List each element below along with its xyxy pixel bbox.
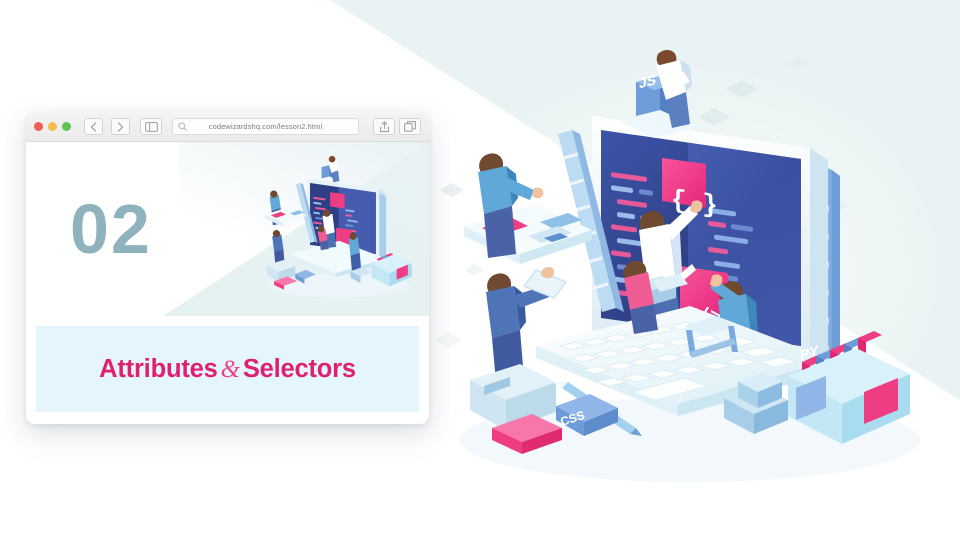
title-second-word: Selectors (243, 355, 356, 383)
chevron-right-icon (117, 122, 124, 132)
window-controls (34, 122, 71, 131)
toolbar-right-actions (369, 118, 421, 135)
lesson-number: 02 (70, 194, 152, 264)
browser-window: codewizardshq.com/lesson2.html (26, 112, 429, 424)
chevron-left-icon (90, 122, 97, 132)
screenshot-stage: { } </> (0, 0, 960, 540)
browser-content: 02 (26, 142, 429, 424)
title-ampersand: & (218, 356, 243, 383)
address-bar[interactable]: codewizardshq.com/lesson2.html (172, 118, 359, 135)
slide-title-band: Attributes&Selectors (26, 316, 429, 424)
minimize-window-button[interactable] (48, 122, 57, 131)
isometric-illustration: { } </> (440, 30, 950, 490)
sidebar-toggle-button[interactable] (140, 118, 162, 135)
back-button[interactable] (84, 118, 103, 135)
sidebar-icon (145, 122, 158, 132)
hero-mini-illustration (257, 150, 425, 310)
share-icon (379, 121, 390, 133)
js-block-worker: JS (620, 50, 702, 138)
page-title: Attributes&Selectors (99, 355, 356, 384)
address-bar-text[interactable]: codewizardshq.com/lesson2.html (173, 122, 358, 131)
wireframe-table (464, 204, 592, 264)
close-window-button[interactable] (34, 122, 43, 131)
title-first-word: Attributes (99, 355, 217, 383)
tabs-icon (404, 121, 416, 132)
slide-hero-panel: 02 (26, 142, 429, 316)
browser-toolbar: codewizardshq.com/lesson2.html (26, 112, 429, 142)
show-tabs-button[interactable] (399, 118, 421, 135)
share-button[interactable] (373, 118, 395, 135)
maximize-window-button[interactable] (62, 122, 71, 131)
search-icon (178, 122, 187, 131)
slide-title-band-inner: Attributes&Selectors (36, 326, 419, 412)
forward-button[interactable] (111, 118, 130, 135)
